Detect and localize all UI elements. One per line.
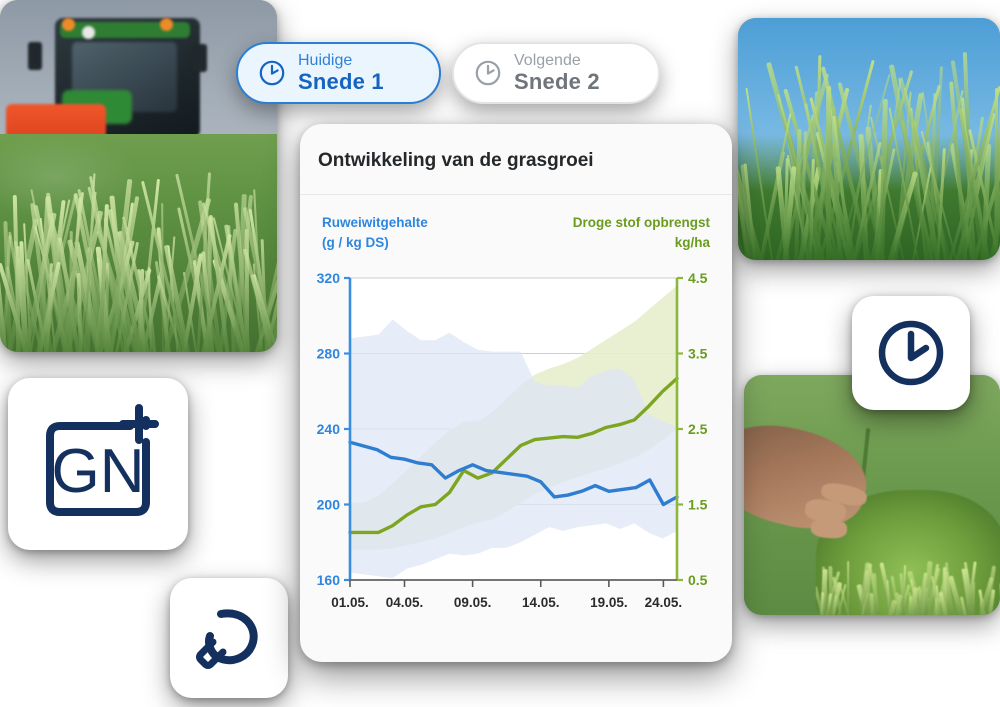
y-tick-label-left: 200	[317, 497, 341, 513]
tab-title: Snede 1	[298, 70, 384, 95]
tab-text-group: Huidige Snede 1	[298, 52, 384, 95]
x-tick-label: 09.05.	[454, 595, 492, 610]
y-tick-label-right: 2.5	[688, 421, 708, 437]
x-tick-label: 04.05.	[386, 595, 424, 610]
chart-plot-area: 1602002402803200.51.52.53.54.501.05.04.0…	[300, 264, 732, 630]
tab-text-group: Volgende Snede 2	[514, 52, 600, 95]
x-tick-label: 24.05.	[645, 595, 683, 610]
x-tick-label: 14.05.	[522, 595, 560, 610]
tab-huidige-snede-1[interactable]: Huidige Snede 1	[236, 42, 441, 104]
page-title: Ontwikkeling van de grasgroei	[300, 124, 732, 172]
tab-kicker: Volgende	[514, 52, 600, 70]
gn-logo-text: GN	[52, 437, 145, 506]
x-tick-label: 19.05.	[590, 595, 628, 610]
tab-title: Snede 2	[514, 70, 600, 95]
x-tick-label: 01.05.	[331, 595, 369, 610]
legend-entry-protein: Ruweiwitgehalte (g / kg DS)	[322, 213, 428, 252]
y-tick-label-left: 280	[317, 346, 341, 362]
tractor-mirror	[193, 44, 207, 72]
legend-entry-drymatter: Droge stof opbrengst kg/ha	[573, 213, 710, 252]
tractor-lamp	[160, 18, 173, 31]
grass-blades	[738, 18, 1000, 260]
card-clock-icon	[852, 296, 970, 410]
y-tick-label-left: 160	[317, 572, 341, 588]
tab-volgende-snede-2[interactable]: Volgende Snede 2	[452, 42, 660, 104]
legend-unit-protein: (g / kg DS)	[322, 233, 428, 253]
y-tick-label-right: 4.5	[688, 270, 708, 286]
y-tick-label-left: 320	[317, 270, 341, 286]
tractor-mirror	[28, 42, 42, 70]
legend-label-protein: Ruweiwitgehalte	[322, 213, 428, 233]
photo-grass-foreground	[0, 134, 277, 352]
clock-icon	[874, 316, 948, 390]
photo-tractor-mowing-grass	[0, 0, 277, 352]
y-tick-label-right: 3.5	[688, 346, 708, 362]
photo-hand-in-cut-grass	[744, 375, 1000, 615]
grass-growth-line-chart: 1602002402803200.51.52.53.54.501.05.04.0…	[300, 264, 732, 630]
tractor-lamp	[82, 26, 95, 39]
tab-kicker: Huidige	[298, 52, 384, 70]
card-gn-plus-logo: GN	[8, 378, 188, 550]
y-tick-label-right: 0.5	[688, 572, 708, 588]
card-sickle-icon	[170, 578, 288, 698]
clock-icon	[258, 59, 286, 87]
composition-stage: GN Huidige Snede 1	[0, 0, 1000, 707]
y-tick-label-left: 240	[317, 421, 341, 437]
photo-grass-blades-blue-sky	[738, 18, 1000, 260]
legend-unit-drymatter: kg/ha	[573, 233, 710, 253]
y-tick-label-right: 1.5	[688, 497, 708, 513]
grass-blades	[0, 134, 277, 352]
gn-plus-logo-icon: GN	[34, 400, 162, 528]
sickle-icon	[191, 600, 267, 676]
chart-card: Ontwikkeling van de grasgroei Ruweiwitge…	[300, 124, 732, 662]
legend-label-drymatter: Droge stof opbrengst	[573, 213, 710, 233]
chart-legend: Ruweiwitgehalte (g / kg DS) Droge stof o…	[300, 195, 732, 252]
tractor-lamp	[62, 18, 75, 31]
clock-icon	[474, 59, 502, 87]
